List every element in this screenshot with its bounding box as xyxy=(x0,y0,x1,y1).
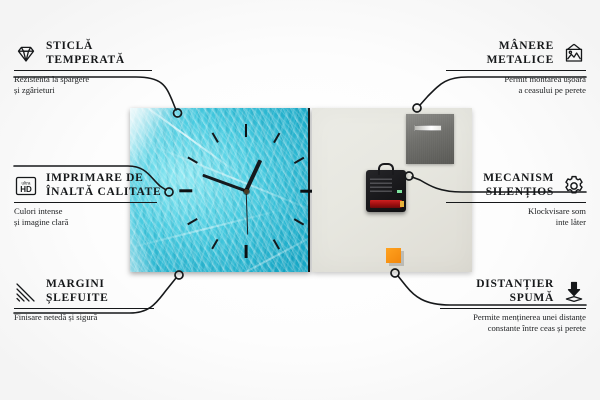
diamond-icon xyxy=(14,42,38,66)
callout-rule xyxy=(14,308,154,309)
callout-desc-line1: Klockvisare som xyxy=(412,206,586,217)
callout-imprimare-calitate: ultra HD IMPRIMARE DE ÎNALTĂ CALITATE Cu… xyxy=(14,172,192,228)
callout-desc-line2: constante între ceas și perete xyxy=(412,323,586,334)
callout-title: MECANISM SILENȚIOS xyxy=(483,172,554,199)
callout-rule xyxy=(14,202,157,203)
callout-header: ultra HD IMPRIMARE DE ÎNALTĂ CALITATE xyxy=(14,172,192,199)
callout-manere-metalice: MÂNERE METALICE Permit montarea ușoară a… xyxy=(412,40,586,96)
callout-title: STICLĂ TEMPERATĂ xyxy=(46,40,125,67)
callout-rule xyxy=(446,202,586,203)
callout-mecanism-silentios: MECANISM SILENȚIOS Klockvisare som inte … xyxy=(412,172,586,228)
callout-desc-line1: Rezistentă la spargere xyxy=(14,74,186,85)
callout-desc-line2: inte låter xyxy=(412,217,586,228)
callout-distantier-spuma: DISTANȚIER SPUMĂ Permite menținerea unei… xyxy=(412,278,586,334)
callout-rule xyxy=(14,70,152,71)
callout-desc-line1: Culori intense xyxy=(14,206,192,217)
callout-desc-line2: a ceasului pe perete xyxy=(412,85,586,96)
callout-title: DISTANȚIER SPUMĂ xyxy=(476,278,554,305)
callout-desc-line1: Permit montarea ușoară xyxy=(412,74,586,85)
callout-header: MÂNERE METALICE xyxy=(412,40,586,67)
callout-margini-slefuite: MARGINI ȘLEFUITE Finisare netedă și sigu… xyxy=(14,278,190,323)
battery xyxy=(370,200,402,208)
infographic-stage: STICLĂ TEMPERATĂ Rezistentă la spargere … xyxy=(0,0,600,400)
mechanism-label xyxy=(370,178,392,192)
callout-desc-line1: Permite menținerea unei distanțe xyxy=(412,312,586,323)
callout-desc-line2: și imagine clară xyxy=(14,217,192,228)
callout-title: IMPRIMARE DE ÎNALTĂ CALITATE xyxy=(46,172,161,199)
callout-desc-line2: și zgârieturi xyxy=(14,85,186,96)
hanger-slot xyxy=(414,125,442,131)
mechanism-hanging-loop xyxy=(378,163,394,175)
gear-icon xyxy=(562,174,586,198)
foam-spacer xyxy=(386,248,401,263)
ultra-hd-icon: ultra HD xyxy=(14,174,38,198)
callout-header: MARGINI ȘLEFUITE xyxy=(14,278,190,305)
mechanism-indicator xyxy=(397,190,402,193)
callout-header: STICLĂ TEMPERATĂ xyxy=(14,40,186,67)
hanger-plate xyxy=(406,114,454,164)
picture-hanger-icon xyxy=(562,42,586,66)
callout-rule xyxy=(446,70,586,71)
bevel-edge-icon xyxy=(14,280,38,304)
callout-desc-line1: Finisare netedă și sigură xyxy=(14,312,190,323)
clock-mechanism xyxy=(366,170,406,212)
callout-header: DISTANȚIER SPUMĂ xyxy=(412,278,586,305)
callout-title: MÂNERE METALICE xyxy=(487,40,554,67)
down-arrow-stack-icon xyxy=(562,280,586,304)
callout-sticla-temperata: STICLĂ TEMPERATĂ Rezistentă la spargere … xyxy=(14,40,186,96)
callout-header: MECANISM SILENȚIOS xyxy=(412,172,586,199)
callout-title: MARGINI ȘLEFUITE xyxy=(46,278,108,305)
svg-text:HD: HD xyxy=(20,185,32,194)
callout-rule xyxy=(440,308,586,309)
